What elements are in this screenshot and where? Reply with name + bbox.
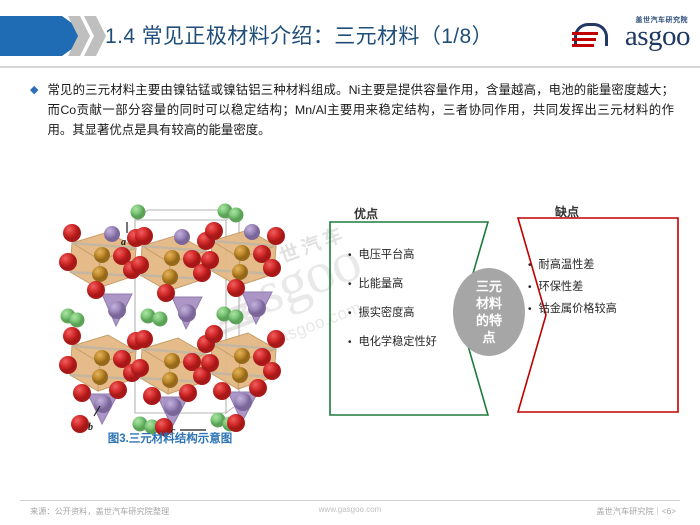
bullet-icon: •: [348, 277, 352, 292]
list-item: •环保性差: [528, 280, 673, 295]
paragraph-text: 常见的三元材料主要由镍钴锰或镍钴铝三种材料组成。Ni主要是提供容量作用，含量越高…: [47, 80, 674, 140]
svg-text:a: a: [121, 237, 126, 248]
cons-header: 缺点: [555, 203, 579, 220]
list-item-label: 电压平台高: [359, 248, 415, 263]
logo-stripe: [572, 32, 598, 35]
logo-mark-icon: [572, 23, 606, 53]
pros-cons-diagram: 优点 缺点 •电压平台高 •比能量高 •振实密度高 •电化学稳定性好 •耐高温性…: [320, 200, 690, 435]
bullet-icon: •: [348, 335, 352, 350]
page-title: 1.4 常见正极材料介绍：三元材料（1/8）: [105, 20, 493, 50]
list-item-label: 振实密度高: [359, 306, 415, 321]
list-item-label: 钴金属价格较高: [539, 302, 617, 317]
cons-list: •耐高温性差 •环保性差 •钴金属价格较高: [528, 258, 673, 324]
logo-wordmark: asgoo: [625, 22, 690, 51]
bullet-icon: •: [528, 258, 532, 273]
intro-paragraph: ◆ 常见的三元材料主要由镍钴锰或镍钴铝三种材料组成。Ni主要是提供容量作用，含量…: [30, 80, 674, 140]
list-item: •电压平台高: [348, 248, 468, 263]
pros-list: •电压平台高 •比能量高 •振实密度高 •电化学稳定性好: [348, 248, 468, 364]
list-item: •钴金属价格较高: [528, 302, 673, 317]
center-node-label: 三元材料的特点: [472, 278, 506, 346]
bullet-icon: •: [528, 302, 532, 317]
list-item: •电化学稳定性好: [348, 335, 468, 350]
list-item: •耐高温性差: [528, 258, 673, 273]
pros-header: 优点: [354, 205, 378, 222]
list-item: •振实密度高: [348, 306, 468, 321]
bullet-icon: •: [348, 306, 352, 321]
figure-caption: 图3.三元材料结构示意图: [40, 430, 300, 446]
footer-website: www.gasgoo.com: [0, 505, 700, 514]
list-item: •比能量高: [348, 277, 468, 292]
footer-page-number: 盖世汽车研究院｜<6>: [596, 505, 676, 517]
crystal-structure-figure: a b c: [40, 198, 300, 448]
logo-stripe: [572, 44, 594, 47]
list-item-label: 比能量高: [359, 277, 404, 292]
gasgoo-logo: 盖世汽车研究院 asgoo: [572, 14, 690, 60]
list-item-label: 耐高温性差: [539, 258, 595, 273]
paragraph-bullet-icon: ◆: [30, 80, 38, 140]
logo-stripe: [572, 38, 596, 41]
list-item-label: 电化学稳定性好: [359, 335, 437, 350]
list-item-label: 环保性差: [539, 280, 584, 295]
header-divider: [0, 66, 700, 68]
footer-divider: [20, 500, 680, 501]
slide-header: 1.4 常见正极材料介绍：三元材料（1/8） 盖世汽车研究院 asgoo: [0, 0, 700, 72]
crystal-structure-svg: a b c: [40, 198, 300, 448]
center-node: 三元材料的特点: [453, 268, 525, 356]
bullet-icon: •: [348, 248, 352, 263]
bullet-icon: •: [528, 280, 532, 295]
slide-canvas: 1.4 常见正极材料介绍：三元材料（1/8） 盖世汽车研究院 asgoo ◆ 常…: [0, 0, 700, 525]
